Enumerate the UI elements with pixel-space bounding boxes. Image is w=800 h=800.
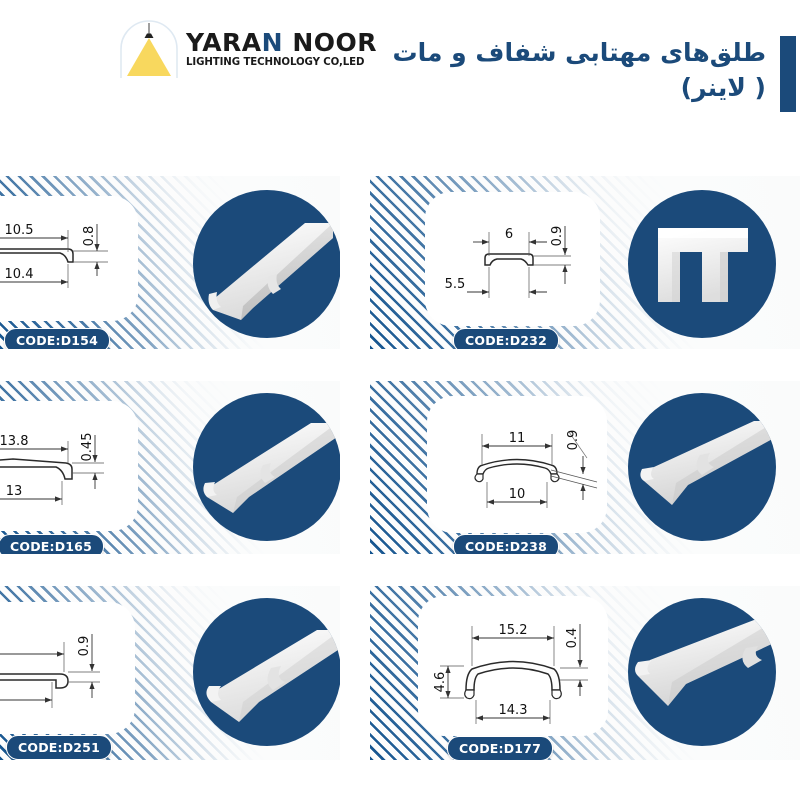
product-photo[interactable] [193, 393, 340, 541]
spec-diagram-card: 6 5.5 0.9 [425, 192, 600, 326]
grid-gutter [370, 554, 800, 586]
dim-height: 0.45 [80, 433, 95, 462]
product-code-badge[interactable]: CODE:D232 [453, 328, 559, 349]
profile-drawing-d165: 13.8 13 0.45 [0, 401, 138, 531]
product-photo[interactable] [193, 190, 340, 338]
product-panel[interactable]: 13.8 13 0.45 CODE:D165 [0, 381, 340, 554]
product-panel[interactable]: 11 10 0.9 CODE:D238 [370, 381, 800, 554]
page-header: YARAN NOOR LIGHTING TECHNOLOGY CO,LED طل… [0, 0, 800, 150]
grid-gutter [340, 176, 370, 349]
product-code-badge[interactable]: CODE:D238 [453, 534, 559, 554]
profile-drawing-d177: 15.2 14.3 0.4 4.6 [418, 596, 608, 736]
product-code-badge[interactable]: CODE:D251 [6, 735, 112, 760]
spec-diagram-card: 11 10 0.9 [427, 396, 607, 533]
product-code-badge[interactable]: CODE:D165 [0, 534, 104, 554]
page-title-sub: ( لاینر) [346, 71, 766, 106]
profile-drawing-d251: 17.6 16.8 0.9 [0, 602, 135, 734]
product-photo[interactable] [193, 598, 340, 746]
dim-height: 0.9 [550, 226, 565, 247]
dim-top-width: 10.5 [5, 223, 34, 238]
dim-height: 0.9 [566, 430, 581, 451]
dim-top-width: 13.8 [0, 434, 28, 449]
spec-diagram-card: 10.5 10.4 0.8 [0, 196, 138, 321]
product-photo[interactable] [628, 190, 776, 338]
dim-side-height: 4.6 [433, 672, 448, 693]
grid-gutter [340, 554, 370, 586]
product-panel[interactable]: 6 5.5 0.9 CODE:D232 [370, 176, 800, 349]
dim-height: 0.4 [565, 628, 580, 649]
product-photo[interactable] [628, 393, 776, 541]
title-accent-bar [780, 36, 796, 112]
grid-gutter [0, 349, 340, 381]
dim-bottom-width: 10 [509, 487, 526, 502]
dim-bottom-width: 13 [6, 484, 23, 499]
dim-height: 0.8 [82, 226, 97, 247]
grid-gutter [340, 381, 370, 554]
product-photo[interactable] [628, 598, 776, 746]
lamp-logo-icon [118, 18, 180, 80]
dim-bottom-width: 14.3 [499, 703, 528, 718]
spec-diagram-card: 15.2 14.3 0.4 4.6 [418, 596, 608, 736]
profile-drawing-d232: 6 5.5 0.9 [425, 192, 600, 326]
page-title-main: طلق‌های مهتابی شفاف و مات [346, 36, 766, 71]
dim-top-width: 6 [505, 227, 513, 242]
product-panel[interactable]: 17.6 16.8 0.9 CODE:D251 [0, 586, 340, 760]
catalog-page: YARAN NOOR LIGHTING TECHNOLOGY CO,LED طل… [0, 0, 800, 800]
product-grid: 10.5 10.4 0.8 CODE:D154 [0, 176, 800, 776]
grid-gutter [340, 349, 370, 381]
profile-drawing-d238: 11 10 0.9 [427, 396, 607, 533]
product-code-badge[interactable]: CODE:D154 [4, 328, 110, 349]
dim-height: 0.9 [77, 636, 92, 657]
brand-logo: YARAN NOOR LIGHTING TECHNOLOGY CO,LED [118, 18, 348, 88]
spec-diagram-card: 13.8 13 0.45 [0, 401, 138, 531]
grid-gutter [340, 586, 370, 760]
grid-gutter [370, 349, 800, 381]
product-panel[interactable]: 15.2 14.3 0.4 4.6 CODE:D177 [370, 586, 800, 760]
grid-gutter [0, 554, 340, 586]
page-title: طلق‌های مهتابی شفاف و مات ( لاینر) [346, 36, 766, 105]
product-code-badge[interactable]: CODE:D177 [447, 736, 553, 760]
profile-drawing-d154: 10.5 10.4 0.8 [0, 196, 138, 321]
dim-top-width: 11 [509, 431, 526, 446]
product-panel[interactable]: 10.5 10.4 0.8 CODE:D154 [0, 176, 340, 349]
dim-bottom-width: 10.4 [5, 267, 34, 282]
dim-bottom-width: 5.5 [445, 277, 466, 292]
spec-diagram-card: 17.6 16.8 0.9 [0, 602, 135, 734]
dim-top-width: 15.2 [499, 623, 528, 638]
